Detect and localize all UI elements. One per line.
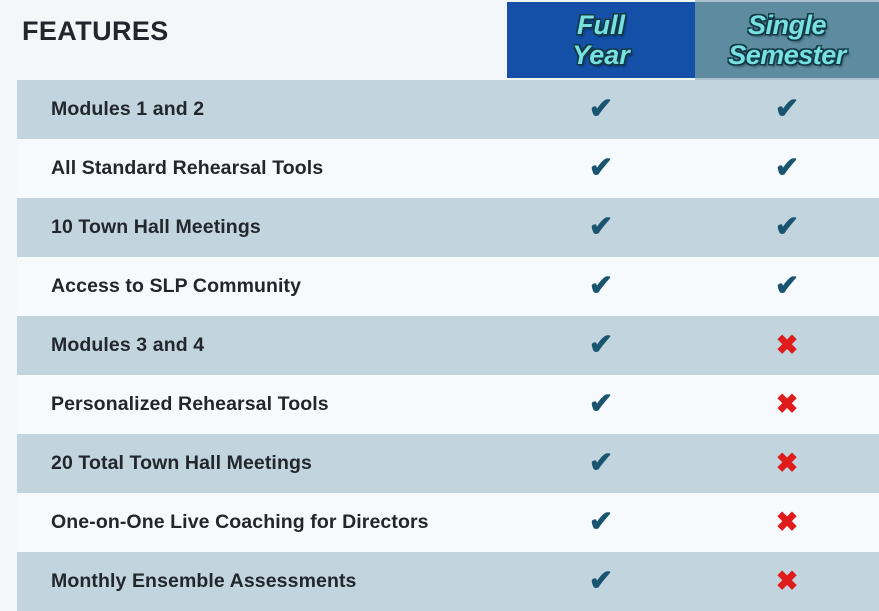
column-header-full-year-line2: Year bbox=[572, 40, 630, 70]
check-icon: ✔ bbox=[507, 434, 695, 493]
check-icon: ✔ bbox=[507, 316, 695, 375]
check-icon: ✔ bbox=[507, 493, 695, 552]
cross-icon: ✖ bbox=[695, 493, 879, 552]
feature-label: Access to SLP Community bbox=[51, 257, 301, 316]
feature-label: Modules 1 and 2 bbox=[51, 80, 204, 139]
feature-label: 10 Town Hall Meetings bbox=[51, 198, 261, 257]
feature-label: 20 Total Town Hall Meetings bbox=[51, 434, 312, 493]
column-header-single-semester: Single Semester bbox=[695, 2, 879, 78]
table-row: Access to SLP Community✔✔ bbox=[0, 257, 879, 316]
feature-label: All Standard Rehearsal Tools bbox=[51, 139, 323, 198]
table-row: Modules 1 and 2✔✔ bbox=[0, 80, 879, 139]
table-row: Modules 3 and 4✔✖ bbox=[0, 316, 879, 375]
feature-label: Personalized Rehearsal Tools bbox=[51, 375, 329, 434]
feature-rows: Modules 1 and 2✔✔All Standard Rehearsal … bbox=[0, 80, 879, 611]
check-icon: ✔ bbox=[507, 80, 695, 139]
feature-label: Monthly Ensemble Assessments bbox=[51, 552, 357, 611]
feature-label: Modules 3 and 4 bbox=[51, 316, 204, 375]
table-row: 20 Total Town Hall Meetings✔✖ bbox=[0, 434, 879, 493]
check-icon: ✔ bbox=[695, 198, 879, 257]
cross-icon: ✖ bbox=[695, 375, 879, 434]
table-row: All Standard Rehearsal Tools✔✔ bbox=[0, 139, 879, 198]
feature-label: One-on-One Live Coaching for Directors bbox=[51, 493, 429, 552]
check-icon: ✔ bbox=[695, 139, 879, 198]
column-header-full-year: Full Year bbox=[507, 2, 695, 78]
table-row: Personalized Rehearsal Tools✔✖ bbox=[0, 375, 879, 434]
check-icon: ✔ bbox=[507, 552, 695, 611]
cross-icon: ✖ bbox=[695, 434, 879, 493]
table-row: One-on-One Live Coaching for Directors✔✖ bbox=[0, 493, 879, 552]
column-header-single-semester-line2: Semester bbox=[728, 40, 846, 70]
table-row: 10 Town Hall Meetings✔✔ bbox=[0, 198, 879, 257]
table-header-row: FEATURES Full Year Single Semester bbox=[0, 0, 879, 80]
check-icon: ✔ bbox=[695, 80, 879, 139]
check-icon: ✔ bbox=[507, 139, 695, 198]
features-comparison-table: FEATURES Full Year Single Semester Modul… bbox=[0, 0, 879, 592]
check-icon: ✔ bbox=[507, 257, 695, 316]
cross-icon: ✖ bbox=[695, 316, 879, 375]
check-icon: ✔ bbox=[507, 375, 695, 434]
features-column-title: FEATURES bbox=[22, 14, 169, 48]
column-header-full-year-line1: Full bbox=[572, 10, 630, 40]
cross-icon: ✖ bbox=[695, 552, 879, 611]
check-icon: ✔ bbox=[695, 257, 879, 316]
table-row: Monthly Ensemble Assessments✔✖ bbox=[0, 552, 879, 611]
check-icon: ✔ bbox=[507, 198, 695, 257]
column-header-single-semester-line1: Single bbox=[728, 10, 846, 40]
